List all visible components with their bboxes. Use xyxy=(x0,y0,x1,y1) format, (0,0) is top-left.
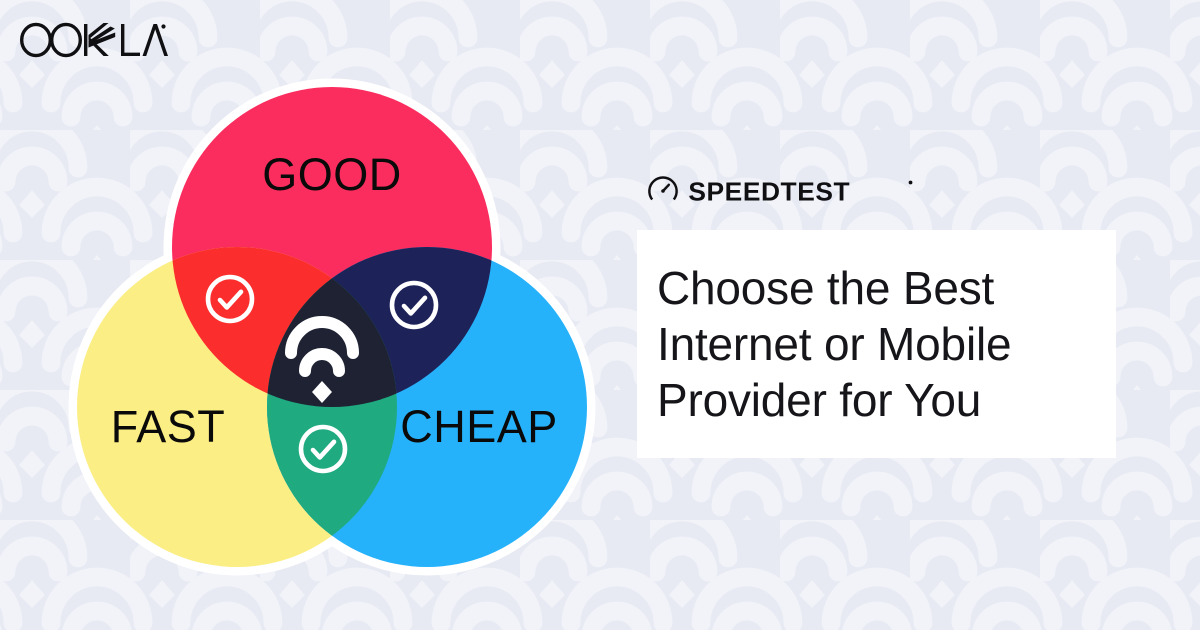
svg-text:SPEEDTEST: SPEEDTEST xyxy=(688,176,850,206)
venn-label-good: GOOD xyxy=(262,149,402,200)
headline-card: Choose the Best Internet or Mobile Provi… xyxy=(637,230,1116,458)
right-panel: SPEEDTEST Choose the Best Internet or Mo… xyxy=(637,168,1127,458)
venn-label-fast: FAST xyxy=(111,401,226,452)
speedtest-logo-row: SPEEDTEST xyxy=(647,168,1127,214)
page-title: Choose the Best Internet or Mobile Provi… xyxy=(637,260,1116,428)
speedometer-icon xyxy=(649,178,676,200)
ookla-trademark-icon xyxy=(161,24,165,28)
venn-diagram: GOOD FAST CHEAP xyxy=(52,62,612,582)
speedtest-logo: SPEEDTEST xyxy=(647,175,916,207)
ookla-logo xyxy=(18,16,168,62)
venn-label-cheap: CHEAP xyxy=(400,401,558,452)
speedtest-trademark-icon xyxy=(909,181,913,185)
